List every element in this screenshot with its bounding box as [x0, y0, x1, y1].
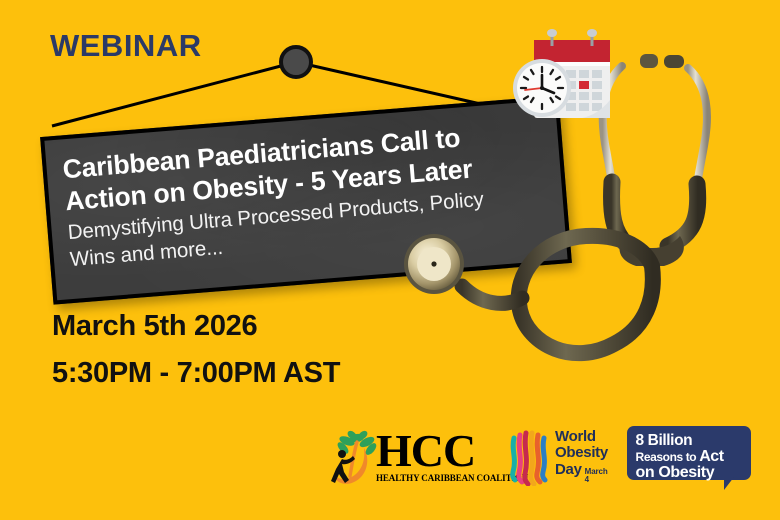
wod-date-note: March 4: [585, 468, 613, 485]
wod-wordmark: World Obesity Day March 4: [555, 429, 613, 484]
calendar-highlight-day: [579, 81, 589, 89]
hcc-acronym: HCC: [376, 431, 528, 471]
wod-line-2: Obesity: [555, 445, 613, 461]
hcc-wordmark: HCC Healthy Caribbean Coalition: [376, 431, 528, 482]
logo-strip: HCC Healthy Caribbean Coalition World Ob…: [330, 414, 750, 500]
calendar-clock-group: [506, 26, 618, 130]
speech-bubble-icon: 8 Billion Reasons to Act on Obesity: [627, 426, 751, 480]
wod-line-1: World: [555, 429, 613, 445]
webinar-eyebrow-label: WEBINAR: [50, 28, 202, 64]
speech-bubble-tail: [724, 477, 734, 490]
wod-line-3: Day: [555, 462, 582, 478]
wod-ribbons-icon: [509, 428, 551, 486]
event-date: March 5th 2026: [52, 310, 257, 343]
callout-knob-icon: [281, 47, 311, 77]
clock-icon: [513, 59, 571, 117]
billion-line-2-prefix: Reasons to: [636, 451, 697, 463]
palm-tree-icon: [330, 426, 378, 488]
hcc-logo: HCC Healthy Caribbean Coalition: [330, 420, 495, 494]
event-time: 5:30PM - 7:00PM AST: [52, 357, 340, 390]
webinar-poster: WEBINAR Caribbean Paediatricians Call to…: [0, 0, 780, 520]
eight-billion-badge: 8 Billion Reasons to Act on Obesity: [627, 426, 750, 488]
hcc-full-name: Healthy Caribbean Coalition: [376, 473, 528, 483]
billion-line-1: 8 Billion: [636, 433, 743, 449]
billion-line-2-emphasis: Act: [699, 449, 723, 465]
world-obesity-day-logo: World Obesity Day March 4: [509, 426, 613, 488]
